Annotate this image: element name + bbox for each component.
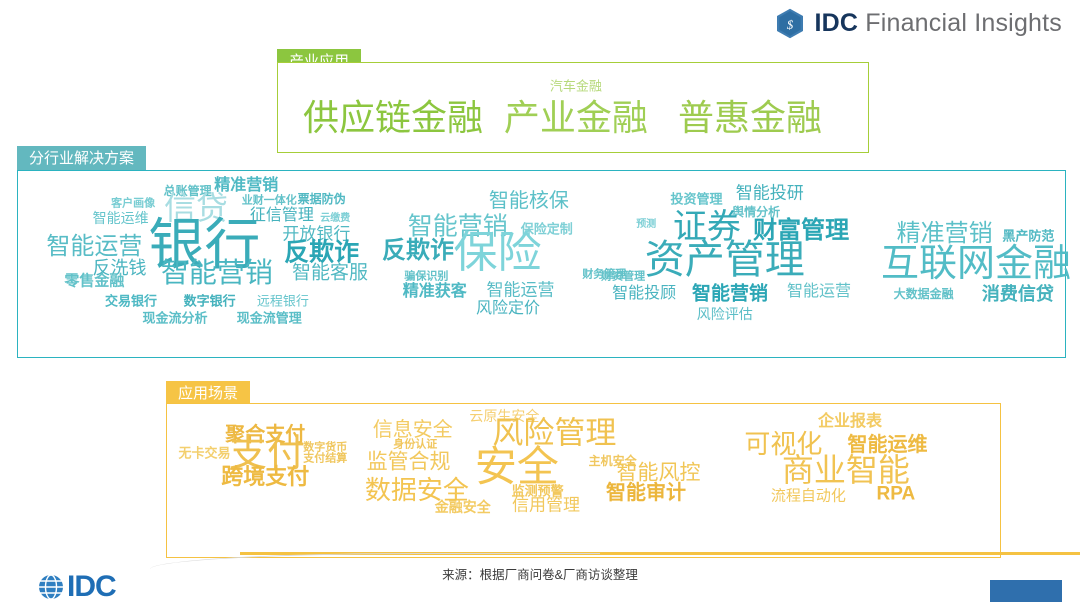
wordcloud-term: 智能运营 bbox=[787, 284, 851, 300]
wordcloud-term: 智能运营 bbox=[487, 282, 555, 299]
wordcloud-term: 产业金融 bbox=[504, 100, 648, 136]
brand-name: IDC Financial Insights bbox=[814, 9, 1062, 38]
wordcloud-term: 零售金融 bbox=[64, 273, 124, 288]
wordcloud-term: RPA bbox=[877, 485, 916, 504]
source-note: 来源：根据厂商问卷&厂商访谈整理 bbox=[0, 564, 1080, 583]
wordcloud-term: 风险定价 bbox=[476, 301, 540, 317]
wordcloud-term: 身份认证 bbox=[393, 440, 437, 451]
brand-name-rest: Financial Insights bbox=[858, 9, 1062, 37]
wordcloud-term: 现金流分析 bbox=[143, 311, 208, 324]
wordcloud-term: 精准获客 bbox=[403, 284, 467, 300]
wordcloud-term: 智能核保 bbox=[489, 191, 569, 211]
wordcloud-term: 智能投顾 bbox=[612, 286, 676, 302]
wordcloud-term: 云缴费 bbox=[320, 214, 350, 224]
wordcloud-term: 投资管理 bbox=[670, 192, 722, 205]
wordcloud-term: 跨境支付 bbox=[221, 466, 309, 488]
wordcloud-term: 远程银行 bbox=[257, 295, 309, 308]
wordcloud-term: 企业报表 bbox=[818, 414, 882, 430]
wordcloud-term: 支付结算 bbox=[303, 454, 347, 465]
section-scenario: 聚合支付无卡交易支付数字货币支付结算跨境支付云原生安全信息安全身份认证风险管理监… bbox=[166, 403, 1001, 558]
wordcloud-term: 智能运维 bbox=[93, 211, 149, 225]
wordcloud-term: 智能运营 bbox=[46, 235, 142, 259]
wordcloud-term: 供应链金融 bbox=[303, 100, 483, 136]
wordcloud-term: 保险 bbox=[454, 231, 542, 275]
wordcloud-term: 智能营销 bbox=[692, 284, 768, 303]
wordcloud-industry: 供应链金融产业金融汽车金融普惠金融 bbox=[278, 63, 868, 152]
wordcloud-term: 现金流管理 bbox=[237, 311, 302, 324]
svg-text:$: $ bbox=[787, 17, 794, 32]
wordcloud-term: 交易银行 bbox=[105, 295, 157, 308]
wordcloud-term: 大数据金融 bbox=[894, 288, 954, 300]
wordcloud-term: 普惠金融 bbox=[678, 100, 822, 136]
wordcloud-term: 智能投研 bbox=[736, 185, 804, 202]
wordcloud-term: 预测 bbox=[636, 220, 656, 230]
wordcloud-scenario: 聚合支付无卡交易支付数字货币支付结算跨境支付云原生安全信息安全身份认证风险管理监… bbox=[167, 404, 1000, 557]
brand-header: $ IDC Financial Insights bbox=[776, 8, 1062, 39]
wordcloud-term: 客户画像 bbox=[111, 199, 155, 210]
wordcloud-term: 智能客服 bbox=[292, 264, 368, 283]
wordcloud-term: 反欺诈 bbox=[382, 239, 454, 263]
wordcloud-term: 无卡交易 bbox=[178, 446, 230, 459]
wordcloud-term: 智能风控 bbox=[616, 462, 700, 483]
slide-canvas: $ IDC Financial Insights 产业应用 供应链金融产业金融汽… bbox=[0, 0, 1080, 608]
wordcloud-term: 汽车金融 bbox=[550, 80, 602, 93]
wordcloud-term: 黑产防范 bbox=[1002, 230, 1054, 243]
wordcloud-term: 信用管理 bbox=[512, 496, 580, 513]
section-vertical: 总账管理精准营销客户画像信贷业财一体化票据防伪征信管理云缴费智能运维银行智能运营… bbox=[17, 170, 1066, 358]
wordcloud-term: 业财一体化 bbox=[242, 195, 297, 206]
wordcloud-term: 骗保识别 bbox=[404, 272, 448, 283]
wordcloud-term: 票据防伪 bbox=[298, 193, 346, 205]
wordcloud-term: 反欺诈 bbox=[284, 240, 359, 265]
footer: IDC 来源：根据厂商问卷&厂商访谈整理 bbox=[0, 560, 1080, 608]
brand-name-bold: IDC bbox=[814, 9, 858, 37]
wordcloud-term: 监管合规 bbox=[367, 452, 451, 473]
footer-blue-chip bbox=[990, 580, 1062, 602]
wordcloud-term: 互联网金融 bbox=[881, 245, 1071, 283]
wordcloud-term: 资产管理 bbox=[645, 240, 805, 280]
wordcloud-term: 商业智能 bbox=[782, 454, 910, 486]
wordcloud-term: 数字银行 bbox=[184, 295, 236, 308]
wordcloud-term: 金融安全 bbox=[435, 500, 491, 514]
section-industry: 供应链金融产业金融汽车金融普惠金融 bbox=[277, 62, 869, 153]
wordcloud-term: 信息安全 bbox=[373, 420, 453, 440]
wordcloud-term: 安全 bbox=[475, 446, 559, 488]
wordcloud-term: 消费信贷 bbox=[982, 285, 1054, 303]
wordcloud-term: 智能营销 bbox=[161, 259, 273, 287]
section-tag-vertical: 分行业解决方案 bbox=[17, 146, 146, 173]
idc-hex-logo-icon: $ bbox=[776, 8, 804, 39]
wordcloud-term: 财资管理 bbox=[601, 272, 645, 283]
wordcloud-term: 流程自动化 bbox=[771, 488, 846, 503]
wordcloud-vertical: 总账管理精准营销客户画像信贷业财一体化票据防伪征信管理云缴费智能运维银行智能运营… bbox=[18, 171, 1065, 357]
wordcloud-term: 智能审计 bbox=[606, 483, 686, 503]
wordcloud-term: 风险评估 bbox=[697, 307, 753, 321]
